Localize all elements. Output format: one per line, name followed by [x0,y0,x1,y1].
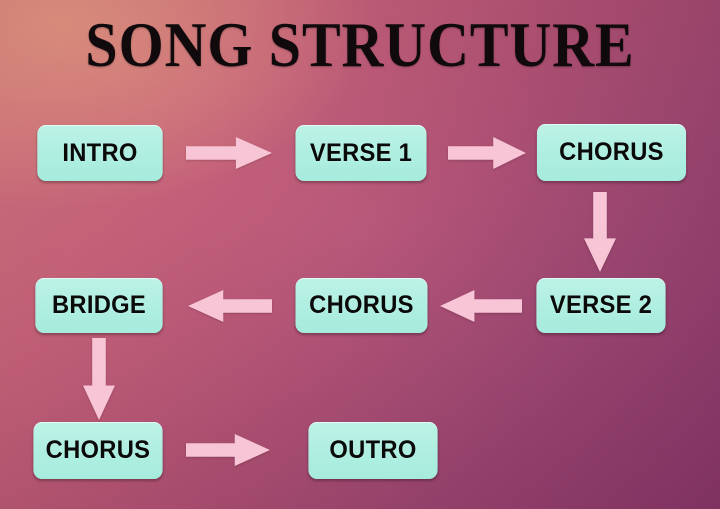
node-intro[interactable]: INTRO [37,125,162,181]
arrow-right-icon [448,133,526,173]
node-chorus3[interactable]: CHORUS [33,422,162,479]
node-bridge[interactable]: BRIDGE [35,278,162,333]
arrow-down-icon [580,192,620,272]
node-label: CHORUS [46,436,151,465]
node-verse1[interactable]: VERSE 1 [295,125,426,181]
arrow-right-icon [186,133,272,173]
node-verse2[interactable]: VERSE 2 [536,278,665,333]
arrow-left-icon [188,286,272,326]
song-structure-diagram: SONG STRUCTURE INTROVERSE 1CHORUSVERSE 2… [0,0,720,509]
node-label: VERSE 2 [550,291,652,320]
arrow-down-icon [79,338,119,420]
node-label: VERSE 1 [310,139,412,168]
node-outro[interactable]: OUTRO [308,422,437,479]
page-title: SONG STRUCTURE [29,14,691,77]
node-chorus1[interactable]: CHORUS [537,124,686,181]
node-label: BRIDGE [52,291,146,320]
arrow-left-icon [440,286,522,326]
node-label: CHORUS [559,138,664,167]
node-label: OUTRO [329,436,416,465]
node-chorus2[interactable]: CHORUS [295,278,427,333]
node-label: CHORUS [309,291,414,320]
node-label: INTRO [62,139,137,168]
arrow-right-icon [186,430,270,470]
